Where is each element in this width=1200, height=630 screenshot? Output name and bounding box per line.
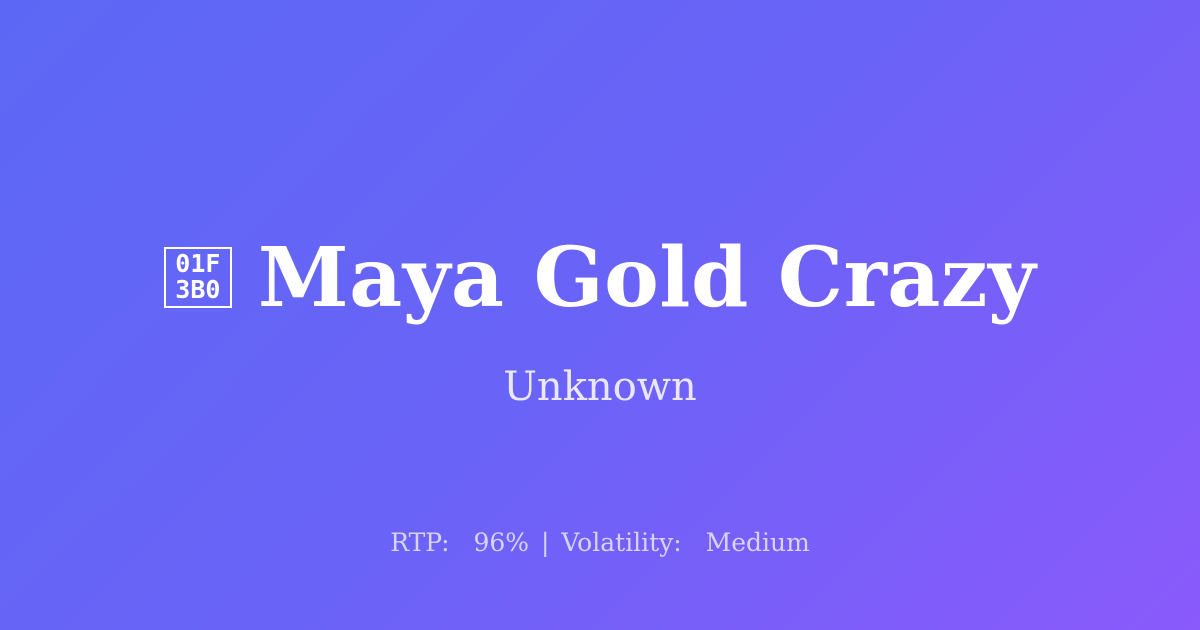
volatility-label: Volatility: <box>561 528 681 557</box>
title-row: 01F 3B0 Maya Gold Crazy <box>0 232 1200 324</box>
rtp-value: 96% <box>473 528 529 557</box>
game-share-card: 01F 3B0 Maya Gold Crazy Unknown RTP: 96%… <box>0 0 1200 630</box>
slot-machine-emoji-icon: 01F 3B0 <box>164 247 232 308</box>
rtp-label: RTP: <box>390 528 449 557</box>
volatility-value: Medium <box>706 528 810 557</box>
stats-separator: | <box>537 528 553 557</box>
game-stats: RTP: 96% | Volatility: Medium <box>0 527 1200 558</box>
provider-label: Unknown <box>0 363 1200 411</box>
page-title: Maya Gold Crazy <box>258 232 1036 324</box>
tofu-codepoint-bottom: 3B0 <box>175 277 220 303</box>
tofu-codepoint-top: 01F <box>175 251 220 277</box>
